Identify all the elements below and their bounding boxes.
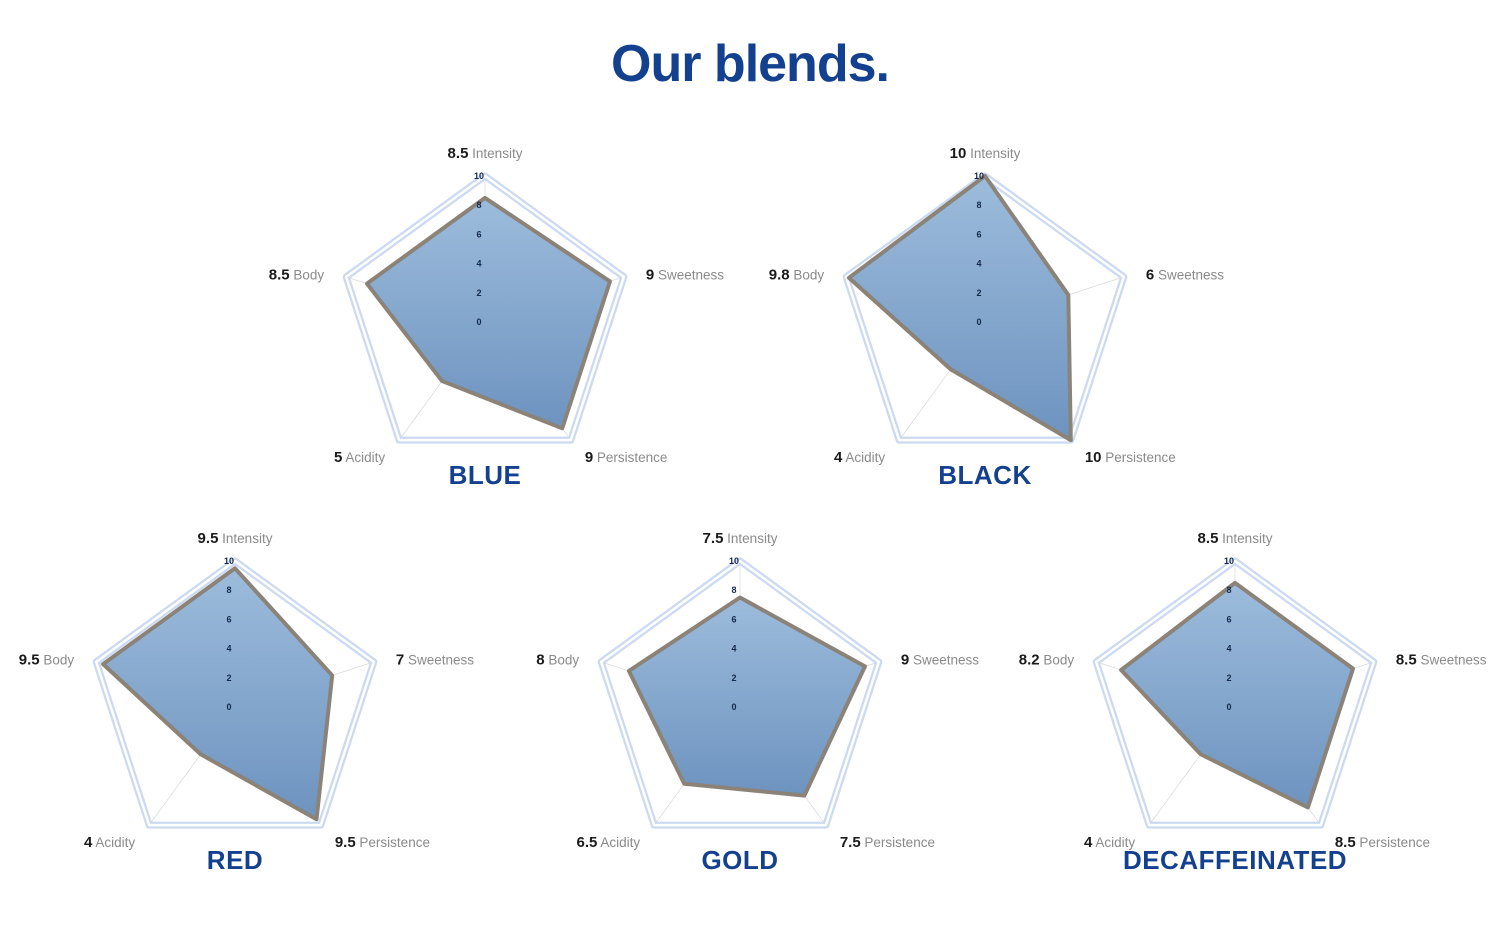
radial-tick-label: 10 [729,556,739,566]
axis-label-intensity: 9.5 Intensity [198,531,273,546]
radial-tick-label: 4 [1226,644,1231,654]
radial-tick-label: 6 [976,229,981,239]
axis-label-body: 8.5 Body [269,267,324,282]
axis-name: Sweetness [404,652,474,667]
axis-name: Body [545,652,580,667]
axis-label-body: 8.2 Body [1019,652,1074,667]
radial-tick-label: 6 [1226,614,1231,624]
radial-tick-label: 8 [476,200,481,210]
axis-name: Body [790,267,825,282]
axis-name: Sweetness [1417,652,1487,667]
axis-name: Body [290,267,325,282]
blend-name: BLACK [735,460,1235,491]
axis-name: Sweetness [654,267,724,282]
radar-plot: 1086420 [735,130,1235,460]
blend-name: DECAFFEINATED [985,845,1485,876]
radar-plot: 1086420 [985,515,1485,845]
axis-label-intensity: 8.5 Intensity [448,146,523,161]
radial-tick-label: 2 [731,673,736,683]
axis-value: 9.5 [198,530,219,547]
axis-name: Body [40,652,75,667]
radial-tick-label: 6 [476,229,481,239]
blend-chart-decaffeinated: 10864208.5 Intensity8.5 Sweetness8.5 Per… [985,515,1485,907]
radial-tick-label: 0 [226,702,231,712]
axis-value: 10 [950,145,967,162]
axis-value: 8.5 [448,145,469,162]
axis-value: 8.5 [1396,651,1417,668]
axis-value: 9.8 [769,266,790,283]
radial-tick-label: 4 [476,259,481,269]
axis-label-sweetness: 9 Sweetness [901,652,979,667]
radial-tick-label: 2 [976,288,981,298]
axis-value: 8.2 [1019,651,1040,668]
axis-label-intensity: 8.5 Intensity [1198,531,1273,546]
axis-label-sweetness: 8.5 Sweetness [1396,652,1487,667]
radial-tick-label: 4 [226,644,231,654]
radial-tick-label: 2 [226,673,231,683]
blend-name: RED [0,845,485,876]
axis-label-body: 9.5 Body [19,652,74,667]
blend-name: GOLD [490,845,990,876]
axis-name: Body [1040,652,1075,667]
axis-value: 8.5 [269,266,290,283]
radar-plot: 1086420 [490,515,990,845]
radial-tick-label: 2 [1226,673,1231,683]
axis-value: 7.5 [703,530,724,547]
radial-tick-label: 0 [1226,702,1231,712]
blend-chart-gold: 10864207.5 Intensity9 Sweetness7.5 Persi… [490,515,990,907]
blend-chart-blue: 10864208.5 Intensity9 Sweetness9 Persist… [235,130,735,522]
axis-name: Intensity [723,531,777,546]
radar-plot: 1086420 [0,515,485,845]
radial-tick-label: 8 [976,200,981,210]
radial-tick-label: 10 [974,171,984,181]
blend-chart-grid: 10864208.5 Intensity9 Sweetness9 Persist… [0,120,1500,920]
axis-name: Intensity [1218,531,1272,546]
radial-tick-label: 4 [976,259,981,269]
axis-label-intensity: 10 Intensity [950,146,1021,161]
blend-chart-red: 10864209.5 Intensity7 Sweetness9.5 Persi… [0,515,485,907]
blend-chart-black: 108642010 Intensity6 Sweetness10 Persist… [735,130,1235,522]
radar-plot: 1086420 [235,130,735,460]
axis-label-body: 8 Body [536,652,579,667]
axis-name: Sweetness [1154,267,1224,282]
radial-tick-label: 8 [1226,585,1231,595]
radial-tick-label: 0 [476,317,481,327]
axis-label-intensity: 7.5 Intensity [703,531,778,546]
radial-tick-label: 8 [226,585,231,595]
radial-tick-label: 0 [976,317,981,327]
axis-value: 8.5 [1198,530,1219,547]
blend-name: BLUE [235,460,735,491]
radial-tick-label: 0 [731,702,736,712]
axis-label-sweetness: 9 Sweetness [646,267,724,282]
radial-tick-label: 6 [731,614,736,624]
axis-name: Intensity [468,146,522,161]
page-title: Our blends. [0,38,1500,90]
radial-tick-label: 8 [731,585,736,595]
axis-name: Intensity [218,531,272,546]
axis-value: 9.5 [19,651,40,668]
radial-tick-label: 6 [226,614,231,624]
axis-label-body: 9.8 Body [769,267,824,282]
axis-label-sweetness: 6 Sweetness [1146,267,1224,282]
radial-tick-label: 4 [731,644,736,654]
radial-tick-label: 10 [1224,556,1234,566]
radial-tick-label: 10 [474,171,484,181]
radial-tick-label: 10 [224,556,234,566]
radial-tick-label: 2 [476,288,481,298]
axis-name: Sweetness [909,652,979,667]
axis-label-sweetness: 7 Sweetness [396,652,474,667]
axis-name: Intensity [966,146,1020,161]
